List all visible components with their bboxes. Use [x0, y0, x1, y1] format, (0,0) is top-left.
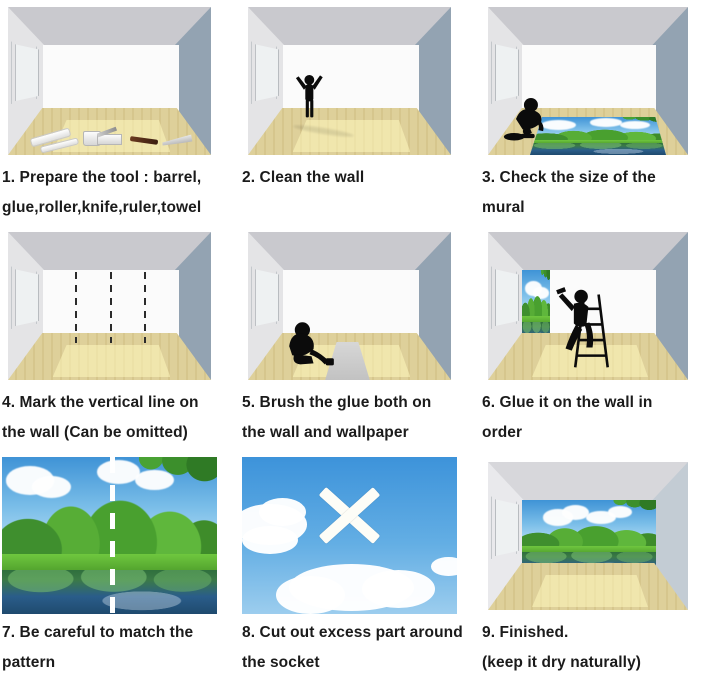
step-3-caption: 3. Check the size of the mural — [480, 159, 715, 223]
step-9-caption: 9. Finished. (keep it dry naturally) — [480, 614, 715, 678]
step-cell-7: 7. Be careful to match the pattern — [0, 455, 240, 695]
room-scene-clean-wall — [242, 2, 457, 159]
step-cell-4: 4. Mark the vertical line on the wall (C… — [0, 225, 240, 455]
step-cell-6: 6. Glue it on the wall in order — [480, 225, 715, 455]
step-6-figure — [482, 227, 694, 384]
floor-light-patch — [53, 345, 171, 378]
step-7-figure — [2, 457, 217, 614]
window — [15, 268, 39, 327]
window — [495, 268, 519, 327]
window — [255, 43, 279, 102]
step-cell-2: 2. Clean the wall — [240, 0, 480, 225]
cloud-left-low — [242, 526, 298, 554]
step-4-figure — [2, 227, 217, 384]
step-9-figure — [482, 457, 694, 614]
step-cell-8: 8. Cut out excess part around the socket — [240, 455, 480, 695]
step-5-caption: 5. Brush the glue both on the wall and w… — [240, 384, 480, 448]
cloud-far-right — [431, 557, 457, 576]
step-6-caption: 6. Glue it on the wall in order — [480, 384, 715, 448]
room-scene-finished — [482, 457, 694, 614]
step-8-figure — [242, 457, 457, 614]
steps-grid: 1. Prepare the tool : barrel, glue,rolle… — [0, 0, 715, 695]
room-scene-brush-glue — [242, 227, 457, 384]
step-1-figure — [2, 2, 217, 159]
room-scene-empty-with-tools — [2, 2, 217, 159]
pattern-match-seam-line — [110, 457, 115, 614]
step-cell-9: 9. Finished. (keep it dry naturally) — [480, 455, 715, 695]
step-cell-5: 5. Brush the glue both on the wall and w… — [240, 225, 480, 455]
room-scene-glue-on-wall — [482, 227, 694, 384]
person-silhouette-cleaning — [287, 60, 332, 127]
step-7-caption: 7. Be careful to match the pattern — [0, 614, 240, 678]
sky-with-socket-cut — [242, 457, 457, 614]
vertical-mark-line-2 — [110, 272, 112, 343]
step-2-caption: 2. Clean the wall — [240, 159, 480, 193]
floor-light-patch — [532, 575, 648, 608]
step-1-caption: 1. Prepare the tool : barrel, glue,rolle… — [0, 159, 240, 223]
step-cell-3: 3. Check the size of the mural — [480, 0, 715, 225]
person-silhouette-kneeling — [502, 84, 558, 152]
step-5-figure — [242, 227, 457, 384]
step-8-caption: 8. Cut out excess part around the socket — [240, 614, 480, 678]
step-2-figure — [242, 2, 457, 159]
room-scene-mark-lines — [2, 227, 217, 384]
window — [495, 498, 519, 557]
cloud-bottom-right — [362, 570, 435, 608]
vertical-mark-line-3 — [144, 272, 146, 343]
room-scene-check-size — [482, 2, 694, 159]
landscape-closeup-match-pattern — [2, 457, 217, 614]
vertical-mark-line-1 — [75, 272, 77, 343]
cloud-bottom-left — [276, 576, 345, 614]
step-cell-1: 1. Prepare the tool : barrel, glue,rolle… — [0, 0, 240, 225]
step-3-figure — [482, 2, 694, 159]
step-4-caption: 4. Mark the vertical line on the wall (C… — [0, 384, 240, 448]
person-silhouette-on-ladder — [552, 273, 604, 365]
person-silhouette-sitting — [276, 309, 337, 377]
window — [15, 43, 39, 102]
instruction-sheet: 1. Prepare the tool : barrel, glue,rolle… — [0, 0, 715, 695]
